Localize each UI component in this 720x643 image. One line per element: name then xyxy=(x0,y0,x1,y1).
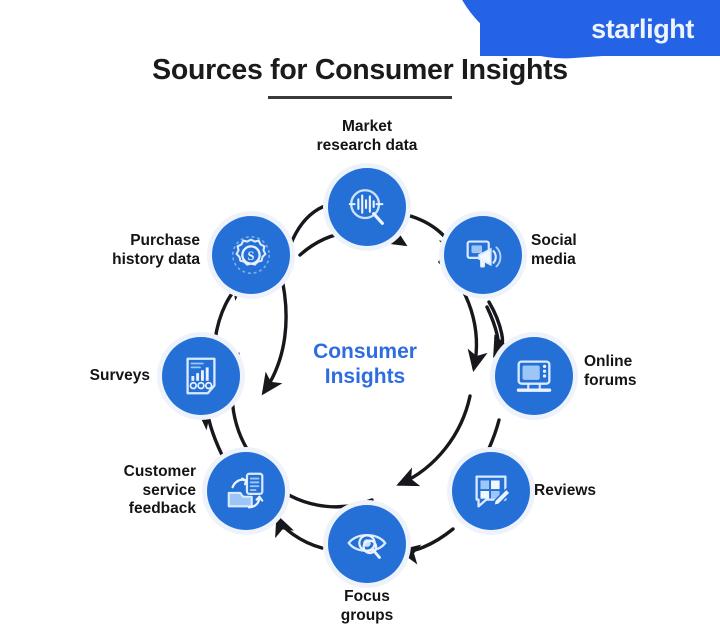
review-pencil-icon xyxy=(468,468,514,514)
online-forums-circle[interactable] xyxy=(495,337,573,415)
hub-label-line2: Insights xyxy=(290,365,440,390)
reviews-label: Reviews xyxy=(534,482,684,501)
market-research-data-label: Market research data xyxy=(287,118,447,155)
eye-magnifier-icon xyxy=(344,521,390,567)
desktop-monitor-icon xyxy=(511,353,557,399)
reviews-circle[interactable] xyxy=(452,452,530,530)
customer-service-feedback-label: Customer service feedback xyxy=(40,463,196,519)
purchase-history-data-circle[interactable]: S xyxy=(212,216,290,294)
hub-label: Consumer Insights xyxy=(290,340,440,390)
customer-service-feedback-circle[interactable] xyxy=(207,452,285,530)
purchase-history-data-label: Purchase history data xyxy=(32,232,200,269)
gear-dollar-icon: S xyxy=(228,232,274,278)
market-research-data-circle[interactable] xyxy=(328,168,406,246)
social-media-circle[interactable] xyxy=(444,216,522,294)
title-underline xyxy=(268,96,452,99)
surveys-label: Surveys xyxy=(10,367,150,386)
infographic-canvas: starlight Sources for Consumer Insights xyxy=(0,0,720,643)
page-title: Sources for Consumer Insights xyxy=(0,54,720,87)
online-forums-label: Online forums xyxy=(584,353,720,390)
megaphone-screen-icon xyxy=(460,232,506,278)
hub-label-line1: Consumer xyxy=(290,340,440,365)
focus-groups-circle[interactable] xyxy=(328,505,406,583)
surveys-circle[interactable] xyxy=(162,337,240,415)
data-transfer-icon xyxy=(223,468,269,514)
social-media-label: Social media xyxy=(531,232,681,269)
svg-text:S: S xyxy=(248,249,255,263)
magnifier-chart-icon xyxy=(344,184,390,230)
focus-groups-label: Focus groups xyxy=(287,588,447,625)
report-chart-icon xyxy=(178,353,224,399)
brand-name: starlight xyxy=(591,14,694,45)
